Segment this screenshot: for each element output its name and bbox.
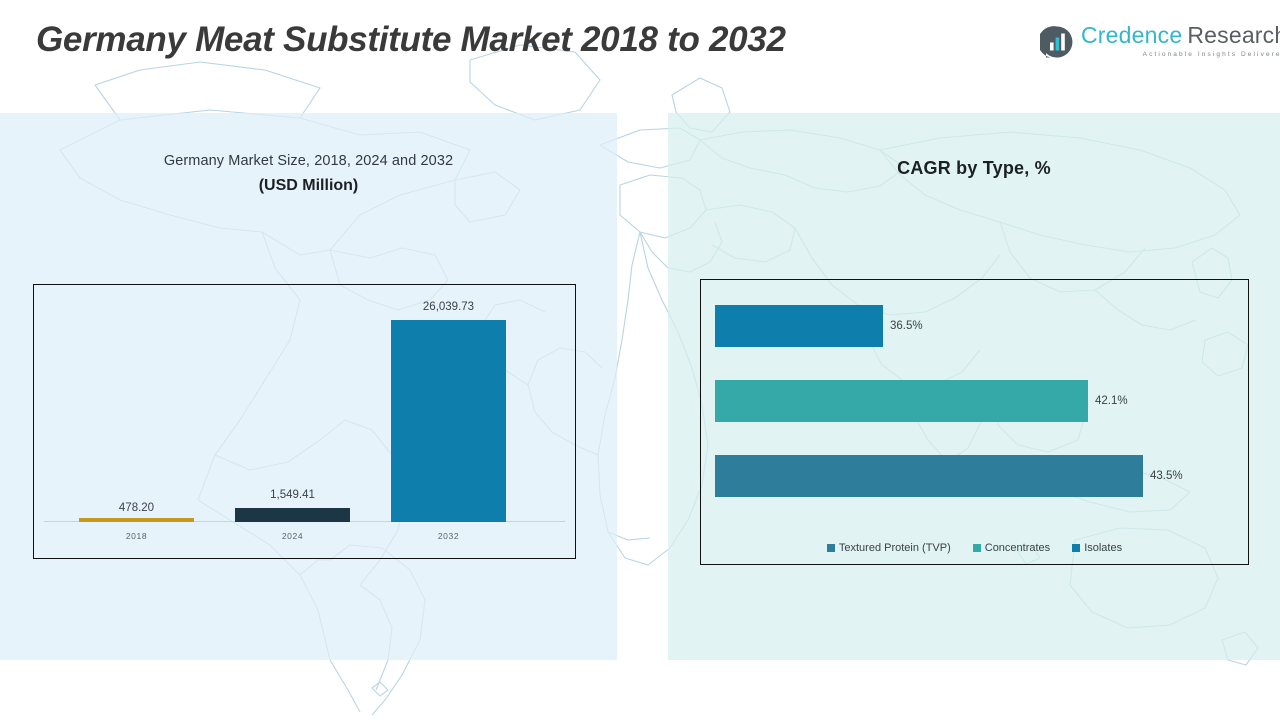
bar-2018 — [79, 518, 194, 522]
chart-legend: Textured Protein (TVP) Concentrates Isol… — [701, 542, 1248, 554]
legend-label-concentrates: Concentrates — [985, 542, 1050, 554]
legend-item-concentrates[interactable]: Concentrates — [973, 542, 1050, 554]
left-chart-unit-label: (USD Million) — [0, 177, 617, 195]
legend-swatch-isolates — [1072, 544, 1080, 552]
bar-chart-circle-icon — [1040, 25, 1074, 64]
legend-item-isolates[interactable]: Isolates — [1072, 542, 1122, 554]
bar-2032 — [391, 320, 506, 522]
hbar-row-textured-protein: 36.5% — [715, 305, 923, 347]
hbar-value-concentrates: 42.1% — [1095, 395, 1128, 407]
right-chart-panel: CAGR by Type, % 36.5% 42.1% 43.5% Textur — [668, 113, 1280, 660]
bar-category-2018: 2018 — [64, 531, 209, 541]
left-chart-panel: Germany Market Size, 2018, 2024 and 2032… — [0, 113, 617, 660]
legend-swatch-textured-protein — [827, 544, 835, 552]
bar-value-2032: 26,039.73 — [376, 301, 521, 313]
hbar-isolates — [715, 455, 1143, 497]
bar-value-2018: 478.20 — [64, 502, 209, 514]
cagr-by-type-bar-chart: 36.5% 42.1% 43.5% Textured Protein (TVP) — [700, 279, 1249, 565]
header: Germany Meat Substitute Market 2018 to 2… — [0, 0, 1280, 113]
hbar-value-textured-protein: 36.5% — [890, 320, 923, 332]
credence-research-logo[interactable]: CredenceResearch Actionable Insights Del… — [1040, 24, 1280, 64]
legend-swatch-concentrates — [973, 544, 981, 552]
hbar-concentrates — [715, 380, 1088, 422]
left-chart-subtitle: Germany Market Size, 2018, 2024 and 2032 — [0, 153, 617, 169]
right-chart-title: CAGR by Type, % — [668, 158, 1280, 179]
bar-category-2032: 2032 — [376, 531, 521, 541]
bar-category-2024: 2024 — [220, 531, 365, 541]
legend-label-textured-protein: Textured Protein (TVP) — [839, 542, 951, 554]
bar-group-2024: 1,549.41 2024 — [220, 508, 365, 522]
legend-label-isolates: Isolates — [1084, 542, 1122, 554]
page-title: Germany Meat Substitute Market 2018 to 2… — [36, 20, 786, 60]
logo-brand-primary: Credence — [1081, 22, 1182, 48]
legend-item-textured-protein[interactable]: Textured Protein (TVP) — [827, 542, 951, 554]
bar-group-2018: 478.20 2018 — [64, 518, 209, 522]
bar-value-2024: 1,549.41 — [220, 489, 365, 501]
hbar-value-isolates: 43.5% — [1150, 470, 1183, 482]
hbar-row-isolates: 43.5% — [715, 455, 1183, 497]
hbar-row-concentrates: 42.1% — [715, 380, 1128, 422]
market-size-bar-chart: 478.20 2018 1,549.41 2024 26,039.73 2032 — [33, 284, 576, 559]
bar-2024 — [235, 508, 350, 522]
hbar-textured-protein — [715, 305, 883, 347]
logo-brand-secondary: Research — [1187, 22, 1280, 48]
logo-tagline: Actionable Insights Delivered — [1081, 51, 1280, 58]
bar-group-2032: 26,039.73 2032 — [376, 320, 521, 522]
